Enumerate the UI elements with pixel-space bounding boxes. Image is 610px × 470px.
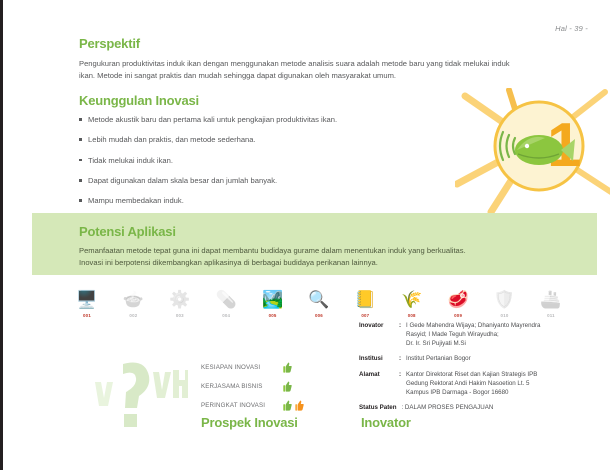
category-number: 010 [487, 313, 523, 318]
section-keunggulan-inovasi: Keunggulan Inovasi Metode akustik baru d… [79, 93, 479, 217]
rating-icons [283, 362, 292, 373]
rating-icons [283, 381, 292, 392]
inovator-heading: Inovator [361, 415, 411, 430]
list-item: Mampu membedakan induk. [79, 196, 479, 206]
section-perspektif: Perspektif Pengukuran produktivitas indu… [79, 36, 519, 83]
keunggulan-heading: Keunggulan Inovasi [79, 93, 479, 108]
status-value: : DALAM PROSES PENGAJUAN [401, 404, 493, 413]
category-number: 002 [115, 313, 151, 318]
category-icon-water-research[interactable]: 🔍 006 [301, 288, 337, 318]
material-icon: 📒 [347, 288, 383, 312]
info-row-institusi: Institusi : Institut Pertanian Bogor [359, 355, 605, 364]
category-icon-plant-crop[interactable]: 🌾 008 [394, 288, 430, 318]
potensi-heading: Potensi Aplikasi [79, 224, 597, 239]
thumbs-up-icon [295, 400, 304, 411]
info-row-inovator: Inovator : I Gede Mahendra Wijaya; Dhani… [359, 322, 605, 348]
category-icon-food[interactable]: 🍲 002 [115, 288, 151, 318]
info-row-alamat: Alamat : Kantor Direktorat Riset dan Kaj… [359, 371, 605, 397]
transport-icon: 🚢 [533, 288, 569, 312]
info-colon: : [399, 322, 406, 348]
rating-label: PERINGKAT INOVASI [201, 402, 283, 409]
list-item: Tidak melukai induk ikan. [79, 156, 479, 166]
page-folio: Hal - 39 - [555, 24, 588, 33]
water-research-icon: 🔍 [301, 288, 337, 312]
rating-row-kerjasama-bisnis: KERJASAMA BISNIS [201, 377, 346, 396]
info-line: Kampus IPB Darmaga - Bogor 16680 [406, 389, 605, 398]
category-number: 008 [394, 313, 430, 318]
category-icon-agriculture-field[interactable]: 🏞️ 005 [255, 288, 291, 318]
rating-label: KESIAPAN INOVASI [201, 364, 283, 371]
info-colon: : [399, 355, 406, 364]
info-line: Institut Pertanian Bogor [406, 355, 605, 364]
category-number: 009 [440, 313, 476, 318]
info-colon: : [399, 371, 406, 397]
perspektif-body: Pengukuran produktivitas induk ikan deng… [79, 58, 519, 83]
info-line: Kantor Direktorat Riset dan Kajian Strat… [406, 371, 605, 380]
thumbs-up-icon [283, 400, 292, 411]
info-value: Institut Pertanian Bogor [406, 355, 605, 364]
category-icon-defense[interactable]: 🛡️ 010 [487, 288, 523, 318]
potensi-line-1: Pemanfaatan metode tepat guna ini dapat … [79, 245, 597, 257]
category-icon-energy[interactable]: ⚙️ 003 [162, 288, 198, 318]
thumbs-up-icon [283, 381, 292, 392]
status-label: Status Paten [359, 404, 396, 413]
rating-label: KERJASAMA BISNIS [201, 383, 283, 390]
category-icon-health-medicine[interactable]: 💊 004 [208, 288, 244, 318]
agriculture-field-icon: 🏞️ [255, 288, 291, 312]
category-icon-strip: 🖥️ 001 🍲 002 ⚙️ 003 💊 004 🏞️ 005 🔍 006 📒… [69, 288, 569, 324]
perspektif-heading: Perspektif [79, 36, 519, 51]
category-icon-livestock[interactable]: 🥩 009 [440, 288, 476, 318]
category-number: 001 [69, 313, 105, 318]
health-medicine-icon: 💊 [208, 288, 244, 312]
info-key: Alamat [359, 371, 399, 397]
category-number: 007 [347, 313, 383, 318]
info-line: I Gede Mahendra Wijaya; Dhaniyanto Mayre… [406, 322, 605, 331]
category-number: 006 [301, 313, 337, 318]
livestock-icon: 🥩 [440, 288, 476, 312]
energy-icon: ⚙️ [162, 288, 198, 312]
rating-row-peringkat-inovasi: PERINGKAT INOVASI [201, 396, 346, 415]
list-item: Metode akustik baru dan pertama kali unt… [79, 115, 479, 125]
document-page: Hal - 39 - 1 [0, 0, 610, 470]
info-key: Inovator [359, 322, 399, 348]
computer-ict-icon: 🖥️ [69, 288, 105, 312]
potensi-aplikasi-panel: Potensi Aplikasi Pemanfaatan metode tepa… [32, 213, 597, 275]
keunggulan-bullet-list: Metode akustik baru dan pertama kali unt… [79, 115, 479, 206]
category-icon-computer-ict[interactable]: 🖥️ 001 [69, 288, 105, 318]
list-item: Lebih mudah dan praktis, dan metode sede… [79, 135, 479, 145]
defense-icon: 🛡️ [487, 288, 523, 312]
list-item: Dapat digunakan dalam skala besar dan ju… [79, 176, 479, 186]
info-line: Gedung Rektorat Andi Hakim Nasoetion Lt.… [406, 380, 605, 389]
prospek-inovasi-heading: Prospek Inovasi [201, 415, 298, 430]
info-value: I Gede Mahendra Wijaya; Dhaniyanto Mayre… [406, 322, 605, 348]
rating-icons [283, 400, 304, 411]
category-icon-material[interactable]: 📒 007 [347, 288, 383, 318]
info-line: Dr. Ir. Sri Pujiyati M.Si [406, 340, 605, 349]
rating-row-kesiapan-inovasi: KESIAPAN INOVASI [201, 358, 346, 377]
food-icon: 🍲 [115, 288, 151, 312]
thumbs-up-icon [283, 362, 292, 373]
category-icon-transport[interactable]: 🚢 011 [533, 288, 569, 318]
info-key: Institusi [359, 355, 399, 364]
rating-list: KESIAPAN INOVASI KERJASAMA BISNIS [201, 358, 346, 415]
category-number: 004 [208, 313, 244, 318]
info-row-status-paten: Status Paten : DALAM PROSES PENGAJUAN [359, 404, 605, 413]
category-number: 003 [162, 313, 198, 318]
info-line: Rasyid; I Made Teguh Wirayudha; [406, 331, 605, 340]
svg-text:1: 1 [547, 111, 581, 180]
plant-crop-icon: 🌾 [394, 288, 430, 312]
inovator-info-table: Inovator : I Gede Mahendra Wijaya; Dhani… [359, 322, 605, 412]
info-value: Kantor Direktorat Riset dan Kajian Strat… [406, 371, 605, 397]
potensi-line-2: Inovasi ini berpotensi dikembangkan apli… [79, 257, 597, 269]
category-number: 011 [533, 313, 569, 318]
category-number: 005 [255, 313, 291, 318]
why-question-mark-watermark [93, 354, 188, 432]
